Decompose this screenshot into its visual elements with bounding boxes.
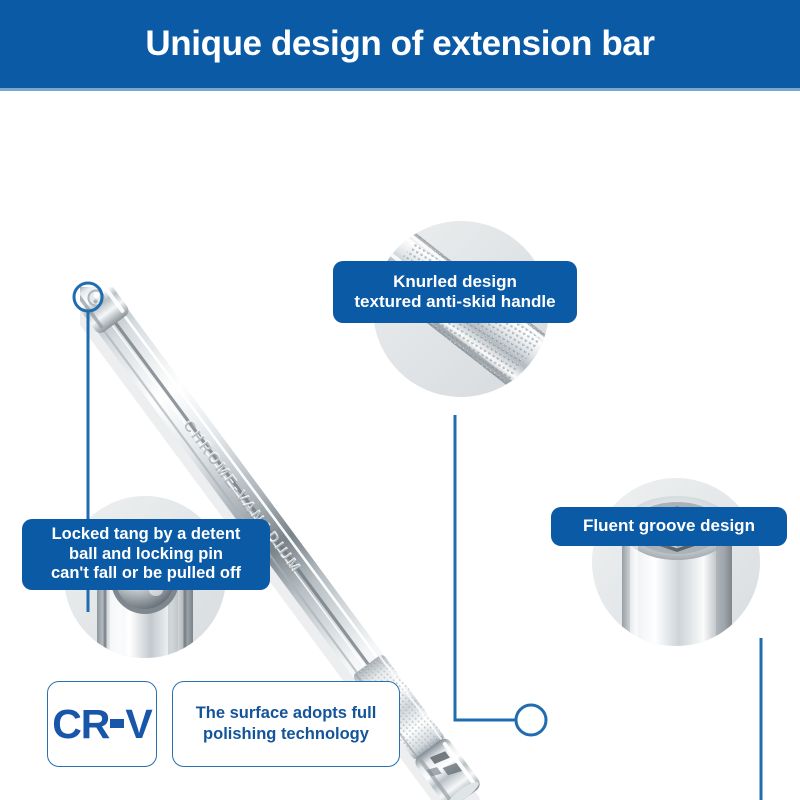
crv-prefix: CR <box>52 701 109 747</box>
callout-locked-tang[interactable]: Locked tang by a detent ball and locking… <box>22 519 270 590</box>
crv-suffix: V <box>125 701 151 747</box>
callout-locked-line-1: Locked tang by a detent <box>51 525 241 545</box>
callout-groove-line-1: Fluent groove design <box>583 516 755 536</box>
crv-dash-glyph <box>110 719 124 728</box>
callout-knurled-line-1: Knurled design <box>354 272 555 292</box>
callout-locked-line-3: can't fall or be pulled off <box>51 564 241 584</box>
callout-knurled-design[interactable]: Knurled design textured anti-skid handle <box>333 261 577 323</box>
header-banner: Unique design of extension bar <box>0 0 800 88</box>
crv-material-badge: CRV <box>47 681 157 767</box>
infographic-page: Unique design of extension bar <box>0 0 800 800</box>
surface-line-1: The surface adopts full <box>196 703 377 724</box>
page-title: Unique design of extension bar <box>145 24 654 64</box>
header-underline <box>0 88 800 91</box>
surface-finish-text: The surface adopts full polishing techno… <box>196 703 377 746</box>
callout-locked-line-2: ball and locking pin <box>51 545 241 565</box>
hex-socket-closeup-svg <box>592 478 760 646</box>
surface-line-2: polishing technology <box>196 724 377 745</box>
surface-finish-box: The surface adopts full polishing techno… <box>172 681 400 767</box>
callout-fluent-groove[interactable]: Fluent groove design <box>551 507 787 546</box>
crv-badge-label: CRV <box>52 701 152 748</box>
callout-knurled-line-2: textured anti-skid handle <box>354 292 555 312</box>
hex-socket-closeup-inset <box>592 478 760 646</box>
